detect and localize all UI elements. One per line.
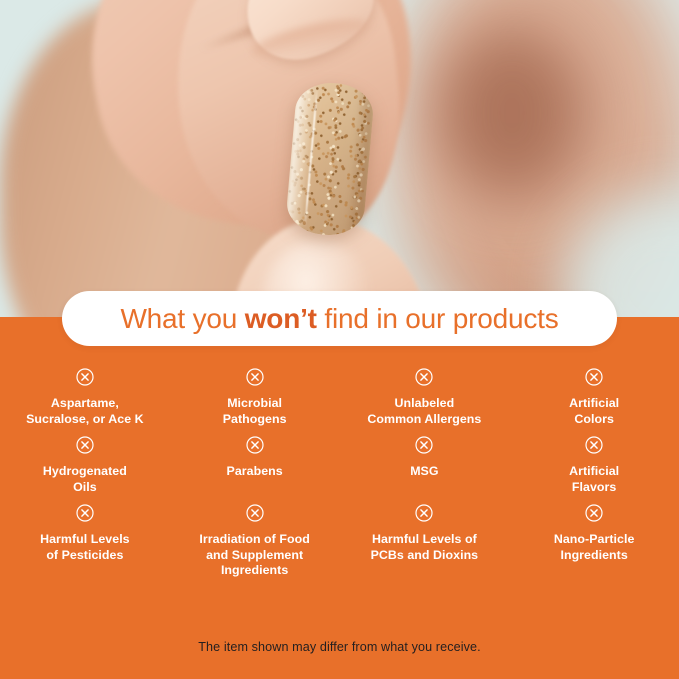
exclusion-item-label: Harmful Levels ofPCBs and Dioxins [371,532,479,563]
banner-title-before: What you [120,303,244,334]
circle-x-icon [76,436,94,454]
title-banner: What you won’t find in our products [62,291,617,346]
disclaimer-text: The item shown may differ from what you … [198,640,480,654]
product-info-graphic: What you won’t find in our products Aspa… [0,0,679,679]
exclusion-item-label: Parabens [227,464,283,480]
circle-x-icon [76,368,94,386]
exclusion-item-label: ArtificialColors [569,396,619,427]
exclusion-item: MicrobialPathogens [170,368,340,427]
exclusion-item: ArtificialColors [509,368,679,427]
circle-x-icon [415,436,433,454]
exclusion-item: MSG [340,436,510,495]
exclusion-item: Aspartame,Sucralose, or Ace K [0,368,170,427]
exclusion-item-label: Nano-ParticleIngredients [554,532,635,563]
supplement-tablet [285,80,376,238]
exclusion-item: Harmful Levelsof Pesticides [0,504,170,579]
exclusion-item-label: Irradiation of Foodand SupplementIngredi… [199,532,309,579]
exclusion-item-label: ArtificialFlavors [569,464,619,495]
circle-x-icon [415,368,433,386]
circle-x-icon [585,504,603,522]
background-blur-dark [432,18,592,208]
exclusion-item: Harmful Levels ofPCBs and Dioxins [340,504,510,579]
hero-photo [0,0,679,320]
circle-x-icon [76,504,94,522]
banner-title: What you won’t find in our products [120,303,558,335]
exclusion-item-label: Harmful Levelsof Pesticides [40,532,130,563]
banner-title-after: find in our products [317,303,559,334]
exclusion-item: ArtificialFlavors [509,436,679,495]
exclusion-item-label: UnlabeledCommon Allergens [367,396,481,427]
exclusion-item: UnlabeledCommon Allergens [340,368,510,427]
exclusion-item: Parabens [170,436,340,495]
exclusion-item-label: Aspartame,Sucralose, or Ace K [26,396,144,427]
exclusion-item: Irradiation of Foodand SupplementIngredi… [170,504,340,579]
footer: The item shown may differ from what you … [0,638,679,656]
exclusion-item-label: HydrogenatedOils [43,464,127,495]
exclusion-item-label: MSG [410,464,438,480]
exclusion-item: HydrogenatedOils [0,436,170,495]
circle-x-icon [246,436,264,454]
circle-x-icon [585,368,603,386]
circle-x-icon [585,436,603,454]
exclusion-grid: Aspartame,Sucralose, or Ace KMicrobialPa… [0,368,679,579]
exclusion-item-label: MicrobialPathogens [223,396,287,427]
exclusion-item: Nano-ParticleIngredients [509,504,679,579]
banner-title-emphasis: won’t [245,303,317,334]
circle-x-icon [246,504,264,522]
circle-x-icon [246,368,264,386]
circle-x-icon [415,504,433,522]
